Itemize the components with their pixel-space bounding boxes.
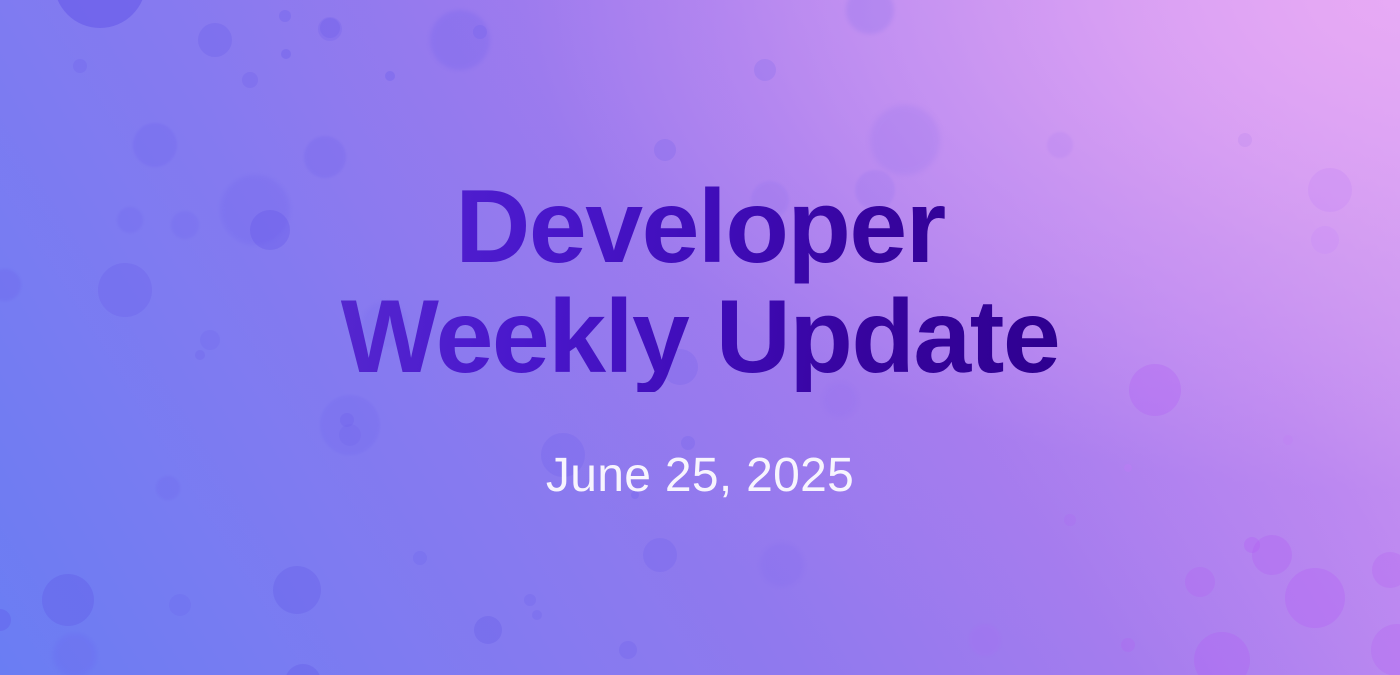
issue-date: June 25, 2025: [546, 448, 854, 503]
weekly-update-banner: Developer Weekly Update June 25, 2025: [0, 0, 1400, 675]
page-title: Developer Weekly Update: [341, 172, 1059, 392]
banner-content: Developer Weekly Update June 25, 2025: [0, 0, 1400, 675]
title-line-2: Weekly Update: [341, 282, 1059, 392]
title-line-1: Developer: [341, 172, 1059, 282]
